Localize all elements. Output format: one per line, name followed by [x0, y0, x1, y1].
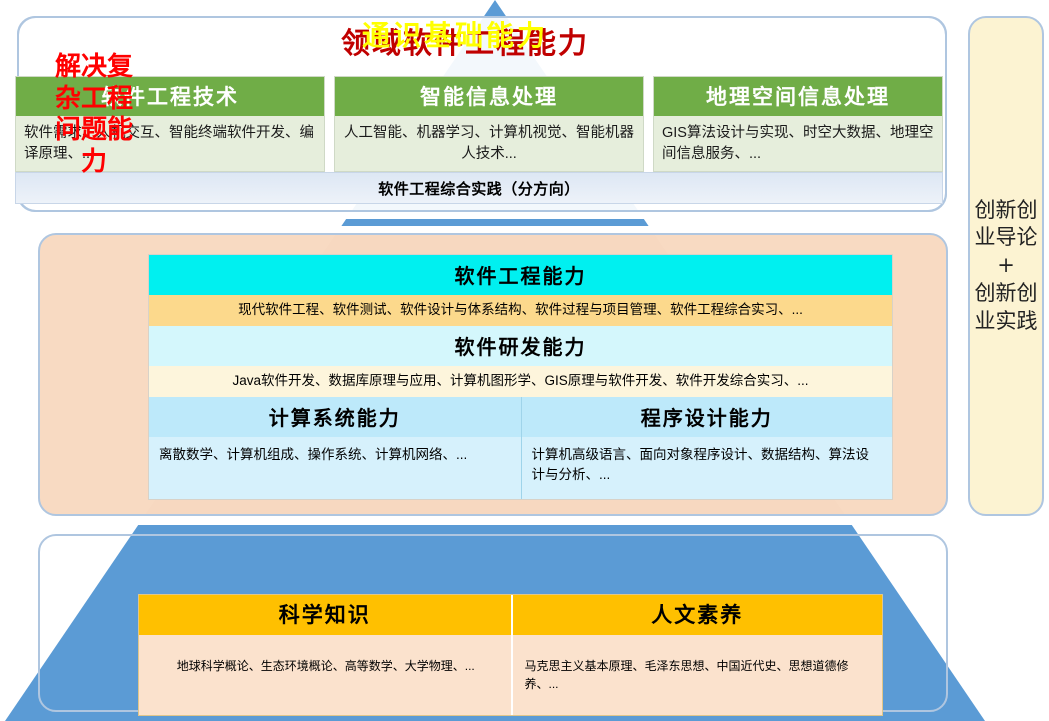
table-header-humanities: 人文素养	[511, 595, 883, 635]
domain-column-intelligent-information-processing[interactable]: 智能信息处理 人工智能、机器学习、计算机视觉、智能机器人技术...	[334, 76, 644, 172]
capability-split-courses: 离散数学、计算机组成、操作系统、计算机网络、... 计算机高级语言、面向对象程序…	[149, 437, 892, 500]
pyramid-gap-3	[0, 516, 1049, 525]
domain-column-header: 地理空间信息处理	[654, 77, 942, 116]
general-foundation-table-header: 科学知识 人文素养	[139, 595, 882, 635]
table-header-science-knowledge: 科学知识	[139, 595, 511, 635]
capability-row-software-development-courses: Java软件开发、数据库原理与应用、计算机图形学、GIS原理与软件开发、软件开发…	[149, 366, 892, 397]
capability-stack: 软件工程能力 现代软件工程、软件测试、软件设计与体系结构、软件过程与项目管理、软…	[148, 254, 893, 500]
innovation-entrepreneurship-label: 创新创业导论 + 创新创业实践	[970, 197, 1042, 336]
capability-computing-systems-title: 计算系统能力	[149, 397, 521, 437]
table-cell-humanities-courses: 马克思主义基本原理、毛泽东思想、中国近代史、思想道德修养、...	[511, 635, 883, 715]
general-foundation-table-row: 地球科学概论、生态环境概论、高等数学、大学物理、... 马克思主义基本原理、毛泽…	[139, 635, 882, 715]
general-foundation-table: 科学知识 人文素养 地球科学概论、生态环境概论、高等数学、大学物理、... 马克…	[138, 594, 883, 716]
domain-column-geospatial-information-processing[interactable]: 地理空间信息处理 GIS算法设计与实现、时空大数据、地理空间信息服务、...	[653, 76, 943, 172]
capability-programming-design-courses: 计算机高级语言、面向对象程序设计、数据结构、算法设计与分析、...	[521, 437, 893, 500]
side-label-complex-engineering: 解决复杂工程问题能力	[48, 52, 140, 179]
domain-column-courses: GIS算法设计与实现、时空大数据、地理空间信息服务、...	[654, 116, 942, 171]
innovation-entrepreneurship-sidebar[interactable]: 创新创业导论 + 创新创业实践	[968, 16, 1044, 516]
pyramid-gap-2	[0, 226, 1049, 233]
comprehensive-practice-band: 软件工程综合实践（分方向）	[15, 172, 943, 204]
pyramid-gap-1	[0, 212, 1049, 219]
bottom-panel-title: 通识基础能力	[0, 14, 910, 54]
diagram-canvas: 领域软件工程能力 软件工程技术 软件需求、人机交互、智能终端软件开发、编译原理、…	[0, 0, 1049, 721]
table-cell-science-courses: 地球科学概论、生态环境概论、高等数学、大学物理、...	[139, 635, 511, 715]
capability-row-software-engineering-courses: 现代软件工程、软件测试、软件设计与体系结构、软件过程与项目管理、软件工程综合实习…	[149, 295, 892, 326]
capability-programming-design-title: 程序设计能力	[521, 397, 893, 437]
capability-row-software-engineering-title: 软件工程能力	[149, 255, 892, 295]
capability-computing-systems-courses: 离散数学、计算机组成、操作系统、计算机网络、...	[149, 437, 521, 500]
domain-column-courses: 人工智能、机器学习、计算机视觉、智能机器人技术...	[335, 116, 643, 171]
domain-column-header: 智能信息处理	[335, 77, 643, 116]
capability-row-software-development-title: 软件研发能力	[149, 326, 892, 366]
capability-split-titles: 计算系统能力 程序设计能力	[149, 397, 892, 437]
